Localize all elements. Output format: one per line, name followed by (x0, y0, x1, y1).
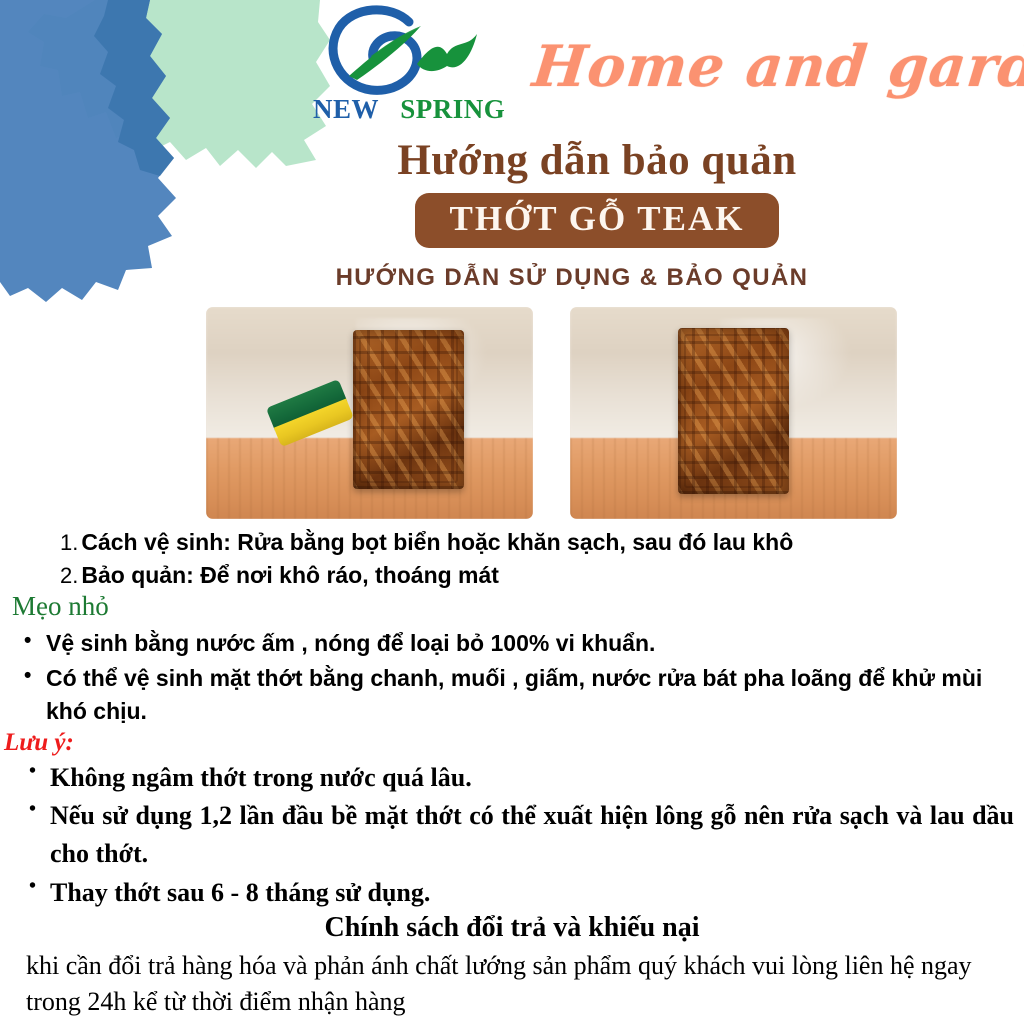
list-item: Thay thớt sau 6 - 8 tháng sử dụng. (24, 874, 1014, 912)
teak-cutting-board (678, 328, 789, 493)
brand-name-spring: SPRING (400, 94, 505, 124)
step-text: Cách vệ sinh: Rửa bằng bọt biển hoặc khă… (81, 526, 793, 559)
brand-logo: NEW SPRING (313, 2, 493, 130)
product-photo-clean-board (570, 307, 897, 519)
list-item: Có thể vệ sinh mặt thớt bằng chanh, muối… (18, 662, 1008, 728)
step-number: 2. (60, 560, 78, 591)
product-photo-row (206, 307, 898, 519)
list-item: 2. Bảo quản: Để nơi khô ráo, thoáng mát (60, 559, 990, 592)
notes-heading: Lưu ý: (4, 729, 74, 757)
title-badge-row: THỚT GỖ TEAK (0, 193, 1024, 248)
product-photo-with-sponge (206, 307, 533, 519)
brand-tagline: Home and garden (529, 33, 1024, 100)
brand-name: NEW SPRING (313, 94, 493, 125)
globe-leaf-logo-icon (313, 2, 493, 98)
step-text: Bảo quản: Để nơi khô ráo, thoáng mát (81, 559, 499, 592)
notes-list: Không ngâm thớt trong nước quá lâu. Nếu … (24, 759, 1014, 912)
poster-page: NEW SPRING Home and garden Hướng dẫn bảo… (0, 0, 1024, 1024)
page-title: Hướng dẫn bảo quản (0, 136, 1024, 185)
teak-cutting-board (353, 330, 464, 489)
product-badge: THỚT GỖ TEAK (415, 193, 778, 248)
page-subtitle: HƯỚNG DẪN SỬ DỤNG & BẢO QUẢN (0, 264, 1024, 292)
logo-green-bird-icon (417, 34, 477, 71)
tips-heading: Mẹo nhỏ (12, 592, 109, 622)
list-item: Vệ sinh bằng nước ấm , nóng để loại bỏ 1… (18, 627, 1008, 660)
list-item: Không ngâm thớt trong nước quá lâu. (24, 759, 1014, 797)
brand-name-new: NEW (313, 94, 379, 124)
list-item: 1. Cách vệ sinh: Rửa bằng bọt biển hoặc … (60, 526, 990, 559)
logo-blue-globe-swoosh (333, 10, 417, 90)
list-item: Nếu sử dụng 1,2 lần đầu bề mặt thớt có t… (24, 797, 1014, 873)
policy-body: khi cần đổi trả hàng hóa và phản ánh chấ… (26, 948, 976, 1020)
instruction-steps: 1. Cách vệ sinh: Rửa bằng bọt biển hoặc … (60, 526, 990, 591)
policy-title: Chính sách đổi trả và khiếu nại (0, 912, 1024, 944)
step-number: 1. (60, 527, 78, 558)
tips-list: Vệ sinh bằng nước ấm , nóng để loại bỏ 1… (18, 627, 1008, 730)
